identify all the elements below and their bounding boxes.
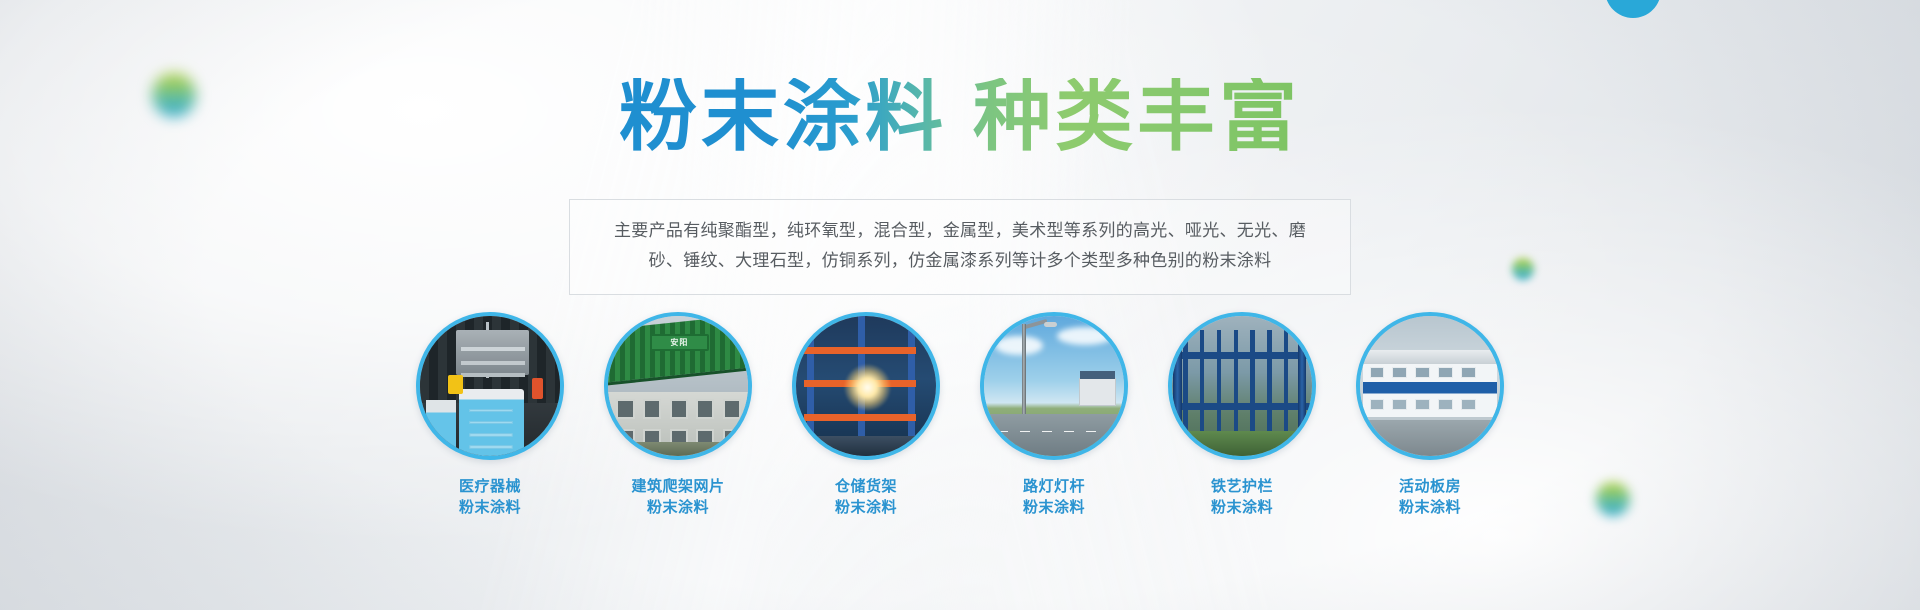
- title-container: 粉末涂料种类丰富: [0, 78, 1920, 156]
- product-image-warehouse-rack[interactable]: [792, 312, 940, 460]
- label-line-2: 粉末涂料: [631, 497, 724, 518]
- label-line-2: 粉末涂料: [1023, 497, 1085, 518]
- warehouse-rack-illustration: [796, 316, 936, 456]
- promo-banner: 粉末涂料种类丰富 主要产品有纯聚酯型，纯环氧型，混合型，金属型，美术型等系列的高…: [0, 0, 1920, 610]
- label-line-1: 医疗器械: [459, 477, 521, 495]
- iron-fence-illustration: [1172, 316, 1312, 456]
- street-lamp-illustration: [984, 316, 1124, 456]
- label-line-1: 路灯灯杆: [1023, 477, 1085, 495]
- label-line-2: 粉末涂料: [835, 497, 897, 518]
- product-label-prefab-house: 活动板房 粉末涂料: [1399, 476, 1461, 518]
- label-line-2: 粉末涂料: [1399, 497, 1461, 518]
- product-image-street-lamp-pole[interactable]: [980, 312, 1128, 460]
- product-item-street-lamp-pole[interactable]: 路灯灯杆 粉末涂料: [974, 312, 1134, 518]
- product-item-prefab-house[interactable]: 活动板房 粉末涂料: [1350, 312, 1510, 518]
- label-line-2: 粉末涂料: [1211, 497, 1273, 518]
- product-circle-list: 医疗器械 粉末涂料 安阳 建筑爬架网片 粉末涂料: [410, 312, 1510, 518]
- label-line-1: 仓储货架: [835, 477, 897, 495]
- product-label-scaffold-mesh: 建筑爬架网片 粉末涂料: [631, 476, 724, 518]
- title-part-1: 粉末涂料: [619, 72, 947, 162]
- product-image-iron-fence[interactable]: [1168, 312, 1316, 460]
- decorative-arc-top-right: [1605, 0, 1661, 18]
- description-box: 主要产品有纯聚酯型，纯环氧型，混合型，金属型，美术型等系列的高光、哑光、无光、磨…: [569, 199, 1351, 295]
- product-image-scaffold-mesh[interactable]: 安阳: [604, 312, 752, 460]
- product-item-warehouse-rack[interactable]: 仓储货架 粉末涂料: [786, 312, 946, 518]
- prefab-house-illustration: [1360, 316, 1500, 456]
- medical-cart-illustration: [420, 316, 560, 456]
- page-title: 粉末涂料种类丰富: [619, 78, 1301, 156]
- scaffold-building-illustration: 安阳: [608, 316, 748, 456]
- product-label-street-lamp-pole: 路灯灯杆 粉末涂料: [1023, 476, 1085, 518]
- product-label-warehouse-rack: 仓储货架 粉末涂料: [835, 476, 897, 518]
- description-line-2: 砂、锤纹、大理石型，仿铜系列，仿金属漆系列等计多个类型多种色别的粉末涂料: [604, 246, 1316, 276]
- product-item-scaffold-mesh[interactable]: 安阳 建筑爬架网片 粉末涂料: [598, 312, 758, 518]
- product-image-prefab-house[interactable]: [1356, 312, 1504, 460]
- label-line-1: 建筑爬架网片: [631, 477, 724, 495]
- decorative-dot-right-small: [1512, 258, 1534, 280]
- product-item-iron-fence[interactable]: 铁艺护栏 粉末涂料: [1162, 312, 1322, 518]
- description-line-1: 主要产品有纯聚酯型，纯环氧型，混合型，金属型，美术型等系列的高光、哑光、无光、磨: [604, 216, 1316, 246]
- title-part-2: 种类丰富: [973, 72, 1301, 162]
- product-item-medical-equipment[interactable]: 医疗器械 粉末涂料: [410, 312, 570, 518]
- label-line-1: 活动板房: [1399, 477, 1461, 495]
- product-image-medical-equipment[interactable]: [416, 312, 564, 460]
- product-label-iron-fence: 铁艺护栏 粉末涂料: [1211, 476, 1273, 518]
- label-line-2: 粉末涂料: [459, 497, 521, 518]
- label-line-1: 铁艺护栏: [1211, 477, 1273, 495]
- decorative-dot-bottom-right: [1596, 482, 1630, 516]
- product-label-medical-equipment: 医疗器械 粉末涂料: [459, 476, 521, 518]
